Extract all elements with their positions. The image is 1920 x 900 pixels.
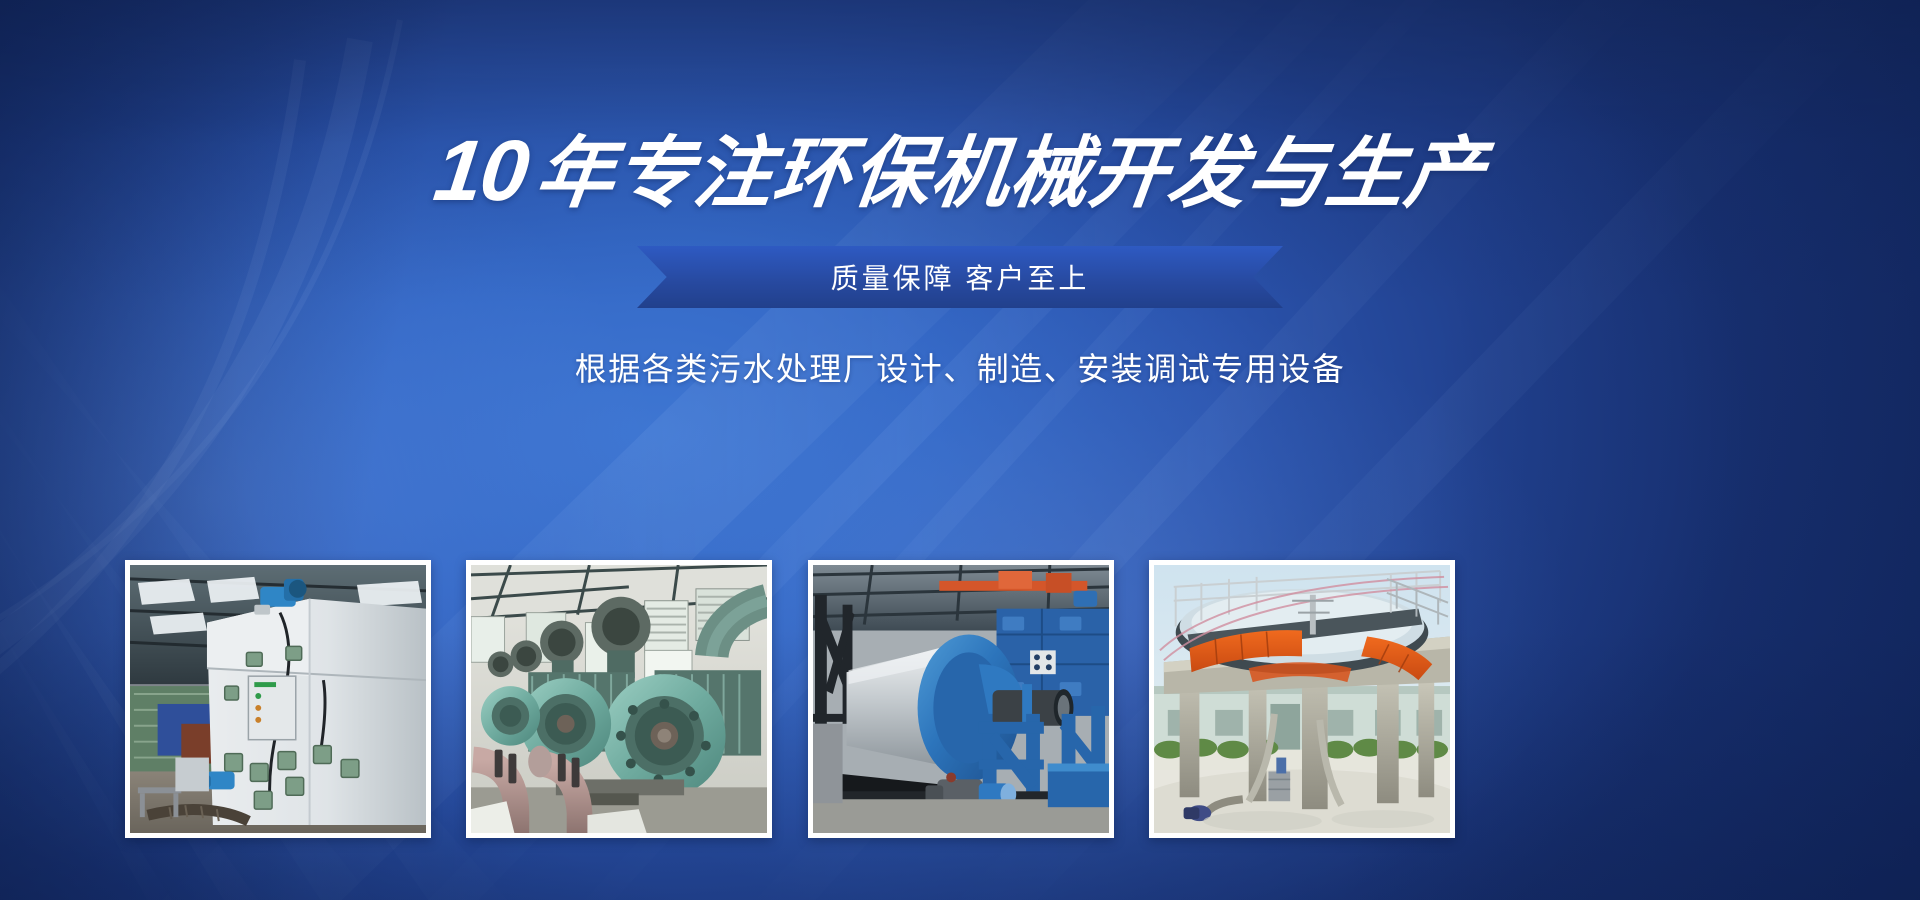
headline-number: 10 xyxy=(429,123,542,219)
photo-card[interactable] xyxy=(1149,560,1455,838)
subtitle: 根据各类污水处理厂设计、制造、安装调试专用设备 xyxy=(575,344,1346,390)
product-photo-strip xyxy=(125,560,1455,838)
photo-card[interactable] xyxy=(808,560,1114,838)
hero-banner: 10年专注环保机械开发与生产 质量保障 客户至上 根据各类污水处理厂设计、制造、… xyxy=(0,0,1920,900)
photo-dissolved-air-flotation-unit xyxy=(130,565,426,833)
photo-card[interactable] xyxy=(125,560,431,838)
headline-text: 年专注环保机械开发与生产 xyxy=(531,129,1490,217)
photo-rotary-drum-screen xyxy=(813,565,1109,833)
photo-roots-blower-room xyxy=(471,565,767,833)
ribbon-label: 质量保障 客户至上 xyxy=(831,257,1090,297)
photo-circular-clarifier xyxy=(1154,565,1450,833)
headline: 10年专注环保机械开发与生产 xyxy=(430,128,1490,214)
ribbon-banner: 质量保障 客户至上 xyxy=(637,246,1283,308)
photo-card[interactable] xyxy=(466,560,772,838)
